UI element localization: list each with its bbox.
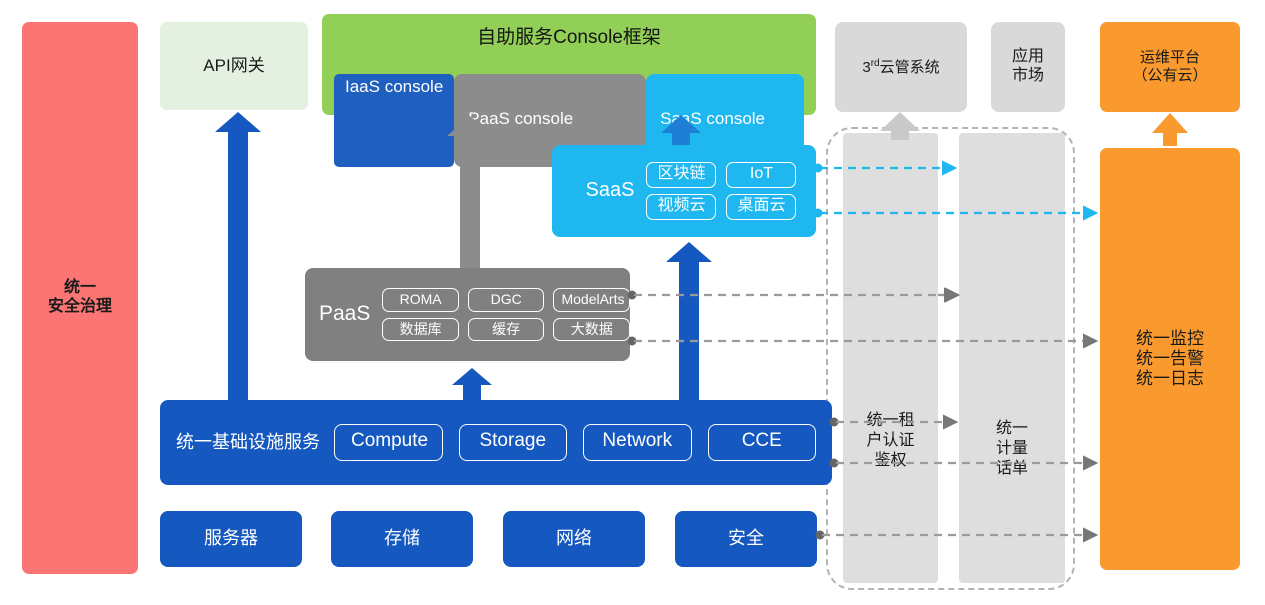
arrow-infra-to-api-gateway (215, 112, 261, 400)
arrow-infra-to-saas (666, 242, 712, 400)
ops-platform-public-cloud-box: 运维平台（公有云） (1100, 22, 1240, 112)
hardware-network-label: 网络 (556, 528, 592, 549)
api-gateway-box: API网关 (160, 22, 308, 110)
self-service-console-frame: 自助服务Console框架 IaaS console PaaS console … (322, 14, 816, 115)
unified-tenant-auth-column: 统一租户认证鉴权 (843, 133, 938, 583)
infrastructure-service-row: Compute Storage Network CCE (334, 424, 816, 460)
hardware-item-storage[interactable]: 存储 (331, 511, 473, 567)
paas-layer-box: PaaS ROMA DGC ModelArts 数据库 缓存 大数据 (305, 268, 630, 361)
application-market-box: 应用市场 (991, 22, 1065, 112)
saas-layer-box: SaaS 区块链 IoT 视频云 桌面云 (552, 145, 816, 237)
paas-label: PaaS (319, 302, 370, 327)
infra-item-compute[interactable]: Compute (334, 424, 443, 460)
hardware-storage-label: 存储 (384, 528, 420, 549)
infra-item-cce[interactable]: CCE (708, 424, 817, 460)
ops-platform-monitoring-panel: 统一监控统一告警统一日志 (1100, 148, 1240, 570)
ops-platform-main-label: 统一监控统一告警统一日志 (1136, 329, 1204, 389)
arrow-infra-to-paas (452, 368, 492, 400)
infra-item-network[interactable]: Network (583, 424, 692, 460)
api-gateway-label: API网关 (203, 56, 264, 76)
paas-item-cache[interactable]: 缓存 (468, 318, 545, 342)
paas-item-modelarts[interactable]: ModelArts (553, 288, 630, 312)
console-frame-title: 自助服务Console框架 (322, 27, 816, 49)
governance-label: 统一安全治理 (48, 279, 112, 317)
saas-service-grid: 区块链 IoT 视频云 桌面云 (646, 162, 796, 220)
unified-security-governance-panel: 统一安全治理 (22, 22, 138, 574)
paas-item-database[interactable]: 数据库 (382, 318, 459, 342)
chip-iaas-console[interactable]: IaaS console (334, 74, 454, 167)
hardware-item-security[interactable]: 安全 (675, 511, 817, 567)
paas-item-bigdata[interactable]: 大数据 (553, 318, 630, 342)
ops-platform-top-label: 运维平台（公有云） (1132, 49, 1207, 84)
infra-item-storage[interactable]: Storage (459, 424, 568, 460)
saas-item-desktop-cloud[interactable]: 桌面云 (726, 194, 796, 220)
unified-metering-label: 统一计量话单 (959, 419, 1065, 479)
architecture-diagram: 统一安全治理 API网关 自助服务Console框架 IaaS console … (0, 0, 1265, 605)
third-cloud-label: 3rd云管系统 (862, 58, 939, 77)
arrow-ops-main-to-ops-top (1152, 113, 1188, 146)
saas-item-video-cloud[interactable]: 视频云 (646, 194, 716, 220)
unified-infrastructure-service-bar: 统一基础设施服务 Compute Storage Network CCE (160, 400, 832, 485)
hardware-server-label: 服务器 (204, 528, 258, 549)
hardware-item-network[interactable]: 网络 (503, 511, 645, 567)
saas-item-iot[interactable]: IoT (726, 162, 796, 188)
paas-item-roma[interactable]: ROMA (382, 288, 459, 312)
infrastructure-label: 统一基础设施服务 (176, 432, 320, 453)
unified-metering-column: 统一计量话单 (959, 133, 1065, 583)
hardware-item-server[interactable]: 服务器 (160, 511, 302, 567)
saas-item-blockchain[interactable]: 区块链 (646, 162, 716, 188)
third-party-cloud-mgmt-box: 3rd云管系统 (835, 22, 967, 112)
hardware-security-label: 安全 (728, 528, 764, 549)
saas-label: SaaS (586, 179, 635, 203)
unified-tenant-auth-label: 统一租户认证鉴权 (843, 411, 938, 471)
paas-service-grid: ROMA DGC ModelArts 数据库 缓存 大数据 (382, 288, 630, 341)
app-market-label: 应用市场 (1012, 48, 1044, 86)
paas-item-dgc[interactable]: DGC (468, 288, 545, 312)
